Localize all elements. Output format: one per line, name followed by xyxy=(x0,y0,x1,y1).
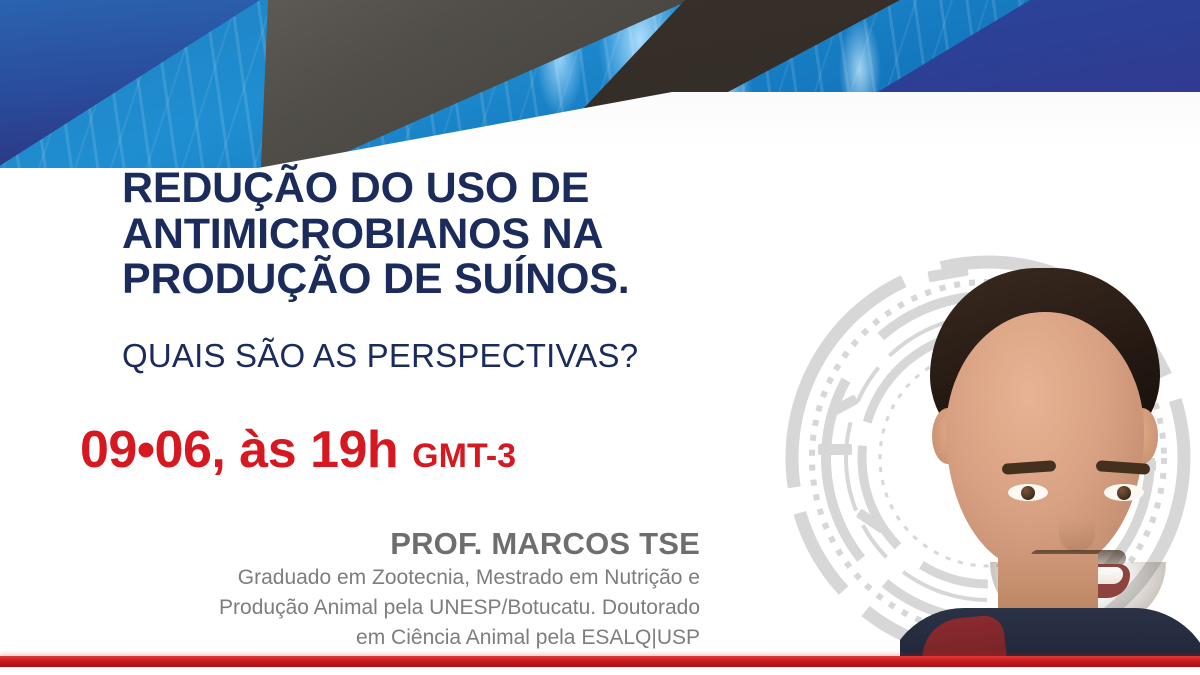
portrait-head xyxy=(914,268,1176,608)
speaker-bio-line-3: em Ciência Animal pela ESALQ|USP xyxy=(0,623,700,653)
portrait-eye-right xyxy=(1104,484,1144,501)
title-line-3: PRODUÇÃO DE SUÍNOS. xyxy=(122,257,762,303)
portrait-eyebrow-left xyxy=(1002,460,1057,475)
portrait-eyebrow-right xyxy=(1096,460,1151,475)
poster-title: REDUÇÃO DO USO DE ANTIMICROBIANOS NA PRO… xyxy=(122,166,762,303)
speaker-bio-line-1: Graduado em Zootecnia, Mestrado em Nutri… xyxy=(0,563,700,593)
webinar-poster: REDUÇÃO DO USO DE ANTIMICROBIANOS NA PRO… xyxy=(0,0,1200,675)
title-line-2: ANTIMICROBIANOS NA xyxy=(122,212,762,258)
bottom-red-accent-bar xyxy=(0,656,1200,667)
title-line-1: REDUÇÃO DO USO DE xyxy=(122,166,762,212)
poster-subtitle: QUAIS SÃO AS PERSPECTIVAS? xyxy=(122,337,782,375)
portrait-nose xyxy=(1059,498,1095,552)
event-datetime: 09•06, às 19hGMT-3 xyxy=(80,420,780,480)
portrait-face xyxy=(946,312,1144,570)
speaker-name: PROF. MARCOS TSE xyxy=(0,526,700,562)
speaker-portrait-photo xyxy=(900,258,1200,658)
event-timezone: GMT-3 xyxy=(412,437,516,475)
event-date-time-text: 09•06, às 19h xyxy=(80,421,398,479)
speaker-bio: Graduado em Zootecnia, Mestrado em Nutri… xyxy=(0,563,700,652)
speaker-bio-line-2: Produção Animal pela UNESP/Botucatu. Dou… xyxy=(0,593,700,623)
portrait-eye-left xyxy=(1008,484,1048,501)
